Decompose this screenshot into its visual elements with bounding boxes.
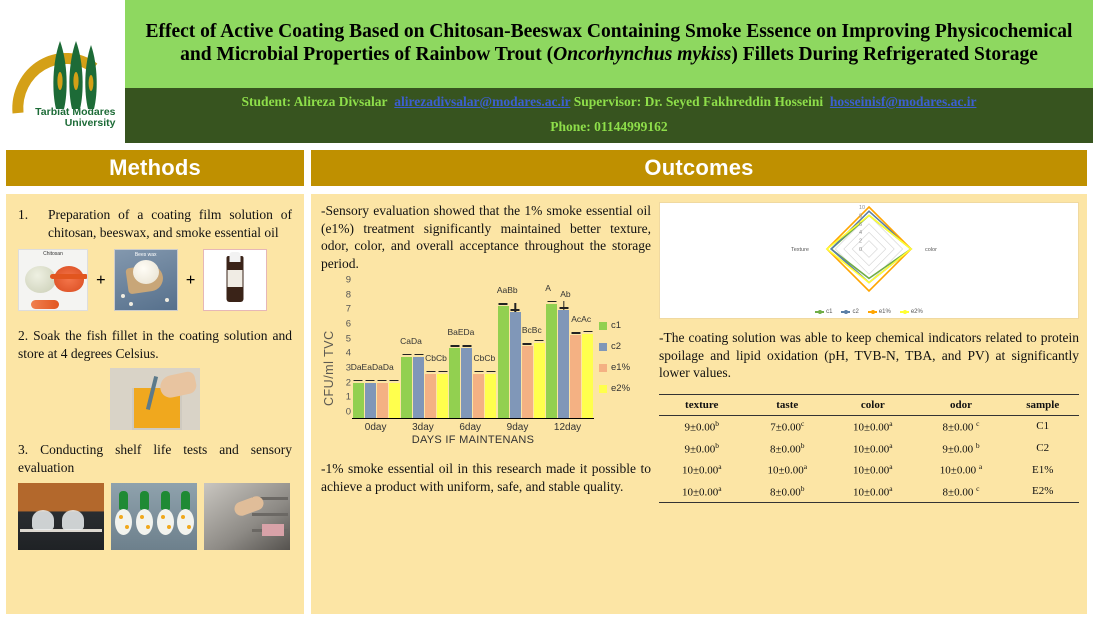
shelf-life-image-row bbox=[18, 483, 292, 550]
table-cell-superscript: a bbox=[889, 419, 892, 428]
radar-series-c1 bbox=[831, 215, 911, 278]
radar-legend-label: e2% bbox=[911, 309, 923, 315]
legend-label: c1 bbox=[611, 320, 621, 331]
student-email-link[interactable]: alirezadivsalar@modares.ac.ir bbox=[394, 94, 570, 109]
legend-item-c2: c2 bbox=[599, 341, 651, 352]
bar-group-annotation: A bbox=[545, 283, 551, 293]
section-header-outcomes: Outcomes bbox=[311, 150, 1087, 186]
bar-group-annotation: AcAc bbox=[571, 314, 591, 324]
radar-legend-label: c2 bbox=[852, 309, 858, 315]
bar-e2pct-12day bbox=[582, 334, 593, 418]
table-cell-superscript: a bbox=[889, 462, 892, 471]
header-right: Effect of Active Coating Based on Chitos… bbox=[125, 0, 1093, 143]
methods-step-1-text: Preparation of a coating film solution o… bbox=[48, 206, 292, 241]
poster-header: Tarbiat Modares University Effect of Act… bbox=[0, 0, 1093, 143]
table-cell-sample: C1 bbox=[1006, 415, 1079, 437]
bar-c2-12day bbox=[558, 310, 569, 418]
table-cell-superscript: c bbox=[801, 419, 804, 428]
shelf-line bbox=[252, 513, 288, 516]
table-cell-texture: 10±0.00a bbox=[659, 480, 745, 502]
table-cell-superscript: c bbox=[976, 419, 979, 428]
bar-chart-y-tick: 2 bbox=[346, 377, 351, 388]
contact-bar: Student: Alireza Divsalar alirezadivsala… bbox=[125, 88, 1093, 143]
table-cell-superscript: b bbox=[801, 441, 805, 450]
bar-chart-group: DaEaDaDa bbox=[353, 280, 400, 418]
table-cell-superscript: b bbox=[715, 419, 719, 428]
bar-group-annotation: BaEDa bbox=[447, 327, 474, 337]
wax-fleck bbox=[129, 302, 133, 306]
outcomes-right-column: odorcolorTasteTexture0246810 c1c2e1%e2% … bbox=[659, 202, 1079, 606]
title-species-italic: Oncorhynchus mykiss bbox=[553, 44, 731, 65]
bar-chart-group: AaBbBcBc bbox=[498, 280, 545, 418]
bar-error-cap bbox=[474, 371, 483, 373]
table-cell-odor: 8±0.00 c bbox=[916, 480, 1007, 502]
radar-legend-item-c1: c1 bbox=[815, 309, 832, 315]
bar-chart-legend: c1c2e1%e2% bbox=[594, 268, 651, 446]
beeswax-image: Bees wax bbox=[114, 249, 178, 311]
bar-error-cap bbox=[486, 371, 495, 373]
bar-e2pct-6day bbox=[485, 374, 496, 418]
legend-item-e2pct: e2% bbox=[599, 383, 651, 394]
bar-error-cap bbox=[535, 340, 544, 342]
sample-dot bbox=[181, 515, 185, 519]
bar-e2pct-0day bbox=[389, 383, 400, 418]
radar-grid-ring bbox=[861, 241, 878, 258]
cold-storage-image bbox=[204, 483, 290, 550]
plate-shape bbox=[157, 509, 174, 535]
bar-error-cap bbox=[571, 332, 580, 334]
chitosan-image: Chitosan bbox=[18, 249, 88, 311]
logo-text-line1: Tarbiat Modares bbox=[35, 107, 115, 118]
sample-dot bbox=[146, 525, 150, 529]
table-cell-superscript: c bbox=[976, 484, 979, 493]
legend-item-c1: c1 bbox=[599, 320, 651, 331]
logo-text: Tarbiat Modares University bbox=[35, 107, 115, 129]
radar-legend-swatch bbox=[868, 311, 877, 313]
bar-group-annotation: BcBc bbox=[522, 325, 542, 335]
sensory-evaluation-text: -Sensory evaluation showed that the 1% s… bbox=[321, 202, 651, 272]
bar-chart-x-axis-title: DAYS IF MAINTENANS bbox=[352, 434, 594, 446]
table-cell-color: 10±0.00a bbox=[830, 480, 916, 502]
table-header-sample: sample bbox=[1006, 394, 1079, 415]
bar-chart-y-tick: 4 bbox=[346, 348, 351, 359]
bar-error-cap bbox=[402, 354, 411, 356]
bar-chart-y-tick: 5 bbox=[346, 333, 351, 344]
legend-label: e2% bbox=[611, 383, 630, 394]
bar-e2pct-3day bbox=[437, 374, 448, 418]
bar-chart-x-tick: 3day bbox=[412, 422, 434, 433]
bar-error-cap bbox=[523, 343, 532, 345]
radar-r-tick: 10 bbox=[859, 205, 865, 211]
bar-chart-x-tick: 12day bbox=[554, 422, 581, 433]
page-title: Effect of Active Coating Based on Chitos… bbox=[131, 20, 1087, 66]
flask-shape bbox=[32, 510, 54, 530]
table-row: 9±0.00b7±0.00c10±0.00a8±0.00 cC1 bbox=[659, 415, 1079, 437]
shrimp-shape bbox=[31, 300, 59, 309]
wax-fleck bbox=[165, 298, 169, 302]
bar-c1-6day bbox=[449, 348, 460, 418]
table-cell-superscript: a bbox=[804, 462, 807, 471]
bar-c1-0day bbox=[353, 383, 364, 418]
bar-error-cap bbox=[366, 380, 375, 382]
bar-c2-0day bbox=[365, 383, 376, 418]
leaf-shape bbox=[140, 491, 149, 510]
bar-e1pct-12day bbox=[570, 335, 581, 418]
legend-swatch bbox=[599, 322, 607, 330]
bar-group-annotation: DaEaDaDa bbox=[351, 362, 394, 372]
table-header-row: texturetastecolorodorsample bbox=[659, 394, 1079, 415]
bar-group-annotation: CbCb bbox=[473, 353, 495, 363]
bar-chart-y-tick: 1 bbox=[346, 392, 351, 403]
table-row: 10±0.00a8±0.00b10±0.00a8±0.00 cE2% bbox=[659, 480, 1079, 502]
bar-chart-y-tick: 9 bbox=[346, 275, 351, 286]
bar-error-cap bbox=[583, 331, 592, 333]
bar-error-cap bbox=[414, 354, 423, 356]
legend-swatch bbox=[599, 364, 607, 372]
chemical-indicators-text: -The coating solution was able to keep c… bbox=[659, 329, 1079, 382]
wax-ball-shape bbox=[133, 260, 159, 284]
bar-error-cap bbox=[426, 371, 435, 373]
table-cell-superscript: b bbox=[801, 484, 805, 493]
table-cell-superscript: a bbox=[979, 462, 982, 471]
table-body: 9±0.00b7±0.00c10±0.00a8±0.00 cC19±0.00b8… bbox=[659, 415, 1079, 503]
radar-series-e2pct bbox=[827, 215, 911, 282]
smoke-oil-bottle-image bbox=[203, 249, 267, 311]
plate-shape bbox=[177, 509, 194, 535]
legend-swatch bbox=[599, 343, 607, 351]
lab-bench-image bbox=[18, 483, 104, 550]
legend-swatch bbox=[599, 385, 607, 393]
radar-r-tick: 6 bbox=[859, 222, 862, 228]
beaker-soaking-image bbox=[110, 368, 200, 430]
sample-dot bbox=[161, 515, 165, 519]
bar-chart-x-tick: 6day bbox=[459, 422, 481, 433]
bar-error-whisker bbox=[515, 303, 516, 312]
bar-chart-y-axis-title: CFU/ml TVC bbox=[321, 276, 337, 446]
table-row: 10±0.00a10±0.00a10±0.00a10±0.00 aE1% bbox=[659, 459, 1079, 481]
radar-axis-label: Texture bbox=[791, 247, 809, 253]
bar-error-cap bbox=[378, 380, 387, 382]
plus-sign-1: + bbox=[96, 270, 106, 290]
table-header-odor: odor bbox=[916, 394, 1007, 415]
methods-panel: 1. Preparation of a coating film solutio… bbox=[6, 194, 304, 614]
table-cell-sample: E1% bbox=[1006, 459, 1079, 481]
plus-sign-2: + bbox=[186, 270, 196, 290]
radar-axis-label: color bbox=[925, 247, 937, 253]
bar-e2pct-9day bbox=[534, 343, 545, 418]
methods-step-2-text: 2. Soak the fish fillet in the coating s… bbox=[18, 327, 292, 362]
bar-c2-3day bbox=[413, 357, 424, 418]
bar-error-cap bbox=[354, 380, 363, 382]
table-cell-odor: 9±0.00 b bbox=[916, 437, 1007, 459]
legend-item-e1pct: e1% bbox=[599, 362, 651, 373]
table-cell-odor: 10±0.00 a bbox=[916, 459, 1007, 481]
logo-text-line2: University bbox=[35, 118, 115, 129]
sensory-radar-chart: odorcolorTasteTexture0246810 c1c2e1%e2% bbox=[659, 202, 1079, 319]
bar-e1pct-0day bbox=[377, 383, 388, 418]
hand-shape bbox=[158, 370, 198, 399]
bar-c1-12day bbox=[546, 304, 557, 418]
bar-error-cap bbox=[438, 371, 447, 373]
radar-r-tick: 8 bbox=[859, 213, 862, 219]
bar-chart-y-tick: 0 bbox=[346, 407, 351, 418]
leaf-shape bbox=[119, 491, 128, 510]
sample-dot bbox=[125, 525, 129, 529]
bar-e1pct-6day bbox=[473, 374, 484, 418]
radar-legend-swatch bbox=[815, 311, 824, 313]
bar-error-cap bbox=[390, 380, 399, 382]
bar-error-whisker bbox=[563, 301, 564, 310]
poster-root: Tarbiat Modares University Effect of Act… bbox=[0, 0, 1093, 617]
section-header-methods: Methods bbox=[6, 150, 304, 186]
table-cell-sample: E2% bbox=[1006, 480, 1079, 502]
bar-chart-group: CaDaCbCb bbox=[401, 280, 448, 418]
section-header-row: Methods Outcomes bbox=[0, 150, 1093, 186]
beeswax-image-caption: Bees wax bbox=[115, 252, 177, 258]
supervisor-email-link[interactable]: hosseinisf@modares.ac.ir bbox=[830, 94, 977, 109]
tvc-bar-chart: CFU/ml TVC 0123456789 DaEaDaDaCaDaCbCbBa… bbox=[321, 276, 651, 446]
table-header-color: color bbox=[830, 394, 916, 415]
bar-c2-9day bbox=[510, 312, 521, 418]
bar-error-cap bbox=[462, 345, 471, 347]
table-cell-superscript: b bbox=[715, 441, 719, 450]
table-cell-texture: 9±0.00b bbox=[659, 415, 745, 437]
radar-chart-legend: c1c2e1%e2% bbox=[660, 309, 1078, 315]
radar-grid-ring bbox=[835, 215, 902, 282]
sample-dot bbox=[119, 515, 123, 519]
bar-e1pct-3day bbox=[425, 374, 436, 418]
ingredient-image-row: Chitosan + Bees wax + bbox=[18, 249, 292, 311]
lab-bench-edge bbox=[20, 529, 102, 532]
table-cell-superscript: b bbox=[976, 441, 980, 450]
bar-c2-6day bbox=[461, 348, 472, 418]
bar-chart-x-tick-labels: 0day3day6day9day12day bbox=[352, 422, 594, 433]
table-header-texture: texture bbox=[659, 394, 745, 415]
phone-line: Phone: 01144999162 bbox=[125, 117, 1093, 136]
leaf-shape bbox=[161, 491, 170, 510]
student-label: Student: Alireza Divsalar bbox=[242, 94, 388, 109]
radar-r-tick: 2 bbox=[859, 239, 862, 245]
bar-chart-y-tick: 8 bbox=[346, 289, 351, 300]
supervisor-label: Supervisor: Dr. Seyed Fakhreddin Hossein… bbox=[574, 94, 823, 109]
title-part-2: ) Fillets During Refrigerated Storage bbox=[731, 44, 1038, 65]
table-cell-superscript: a bbox=[718, 484, 721, 493]
title-bar: Effect of Active Coating Based on Chitos… bbox=[125, 0, 1093, 88]
bar-c1-9day bbox=[498, 306, 509, 418]
radar-legend-label: e1% bbox=[879, 309, 891, 315]
table-row: 9±0.00b8±0.00b10±0.00a9±0.00 bC2 bbox=[659, 437, 1079, 459]
logo-container: Tarbiat Modares University bbox=[0, 0, 125, 143]
methods-step-3-text: 3. Conducting shelf life tests and senso… bbox=[18, 441, 292, 476]
radar-svg: odorcolorTasteTexture0246810 bbox=[660, 203, 1078, 299]
bottle-cap-shape bbox=[230, 252, 241, 262]
table-cell-taste: 8±0.00b bbox=[745, 480, 831, 502]
radar-legend-item-e1pct: e1% bbox=[868, 309, 891, 315]
conclusion-text: -1% smoke essential oil in this research… bbox=[321, 460, 651, 495]
table-cell-color: 10±0.00a bbox=[830, 415, 916, 437]
bar-group-annotation: Ab bbox=[560, 289, 570, 299]
radar-legend-swatch bbox=[841, 311, 850, 313]
bottle-label-shape bbox=[228, 270, 243, 287]
plate-shape bbox=[115, 509, 132, 535]
sample-dot bbox=[187, 525, 191, 529]
outcomes-panel: -Sensory evaluation showed that the 1% s… bbox=[311, 194, 1087, 614]
sample-dot bbox=[167, 525, 171, 529]
bar-chart-y-tick: 6 bbox=[346, 319, 351, 330]
radar-legend-swatch bbox=[900, 311, 909, 313]
bar-group-annotation: CaDa bbox=[400, 336, 422, 346]
bar-chart-group: AAbAcAc bbox=[546, 280, 593, 418]
methods-step-1: 1. Preparation of a coating film solutio… bbox=[18, 206, 292, 241]
bar-chart-y-tick: 7 bbox=[346, 304, 351, 315]
bar-chart-plot-area: DaEaDaDaCaDaCbCbBaEDaCbCbAaBbBcBcAAbAcAc bbox=[352, 280, 594, 419]
crab-shape bbox=[54, 266, 84, 292]
bar-chart-group: BaEDaCbCb bbox=[449, 280, 496, 418]
table-header-taste: taste bbox=[745, 394, 831, 415]
bar-chart-groups: DaEaDaDaCaDaCbCbBaEDaCbCbAaBbBcBcAAbAcAc bbox=[352, 280, 594, 418]
table-cell-color: 10±0.00a bbox=[830, 437, 916, 459]
bar-group-annotation: CbCb bbox=[425, 353, 447, 363]
table-cell-superscript: a bbox=[889, 441, 892, 450]
radar-legend-item-e2pct: e2% bbox=[900, 309, 923, 315]
sensory-results-table: texturetastecolorodorsample 9±0.00b7±0.0… bbox=[659, 394, 1079, 504]
legend-label: e1% bbox=[611, 362, 630, 373]
leaf-shape bbox=[181, 491, 190, 510]
methods-step-1-number: 1. bbox=[18, 206, 42, 241]
table-cell-texture: 10±0.00a bbox=[659, 459, 745, 481]
radar-legend-label: c1 bbox=[826, 309, 832, 315]
wax-fleck bbox=[121, 294, 125, 298]
poster-body: 1. Preparation of a coating film solutio… bbox=[0, 186, 1093, 620]
sample-dot bbox=[140, 515, 144, 519]
chitosan-powder-shape bbox=[25, 266, 56, 293]
table-cell-taste: 10±0.00a bbox=[745, 459, 831, 481]
bar-c1-3day bbox=[401, 357, 412, 418]
bar-error-cap bbox=[547, 301, 556, 303]
bar-chart-x-tick: 9day bbox=[507, 422, 529, 433]
table-cell-sample: C2 bbox=[1006, 437, 1079, 459]
bar-e1pct-9day bbox=[522, 346, 533, 418]
radar-grid-ring bbox=[852, 232, 886, 266]
table-cell-superscript: a bbox=[889, 484, 892, 493]
plate-shape bbox=[136, 509, 153, 535]
table-cell-color: 10±0.00a bbox=[830, 459, 916, 481]
contact-line-authors: Student: Alireza Divsalar alirezadivsala… bbox=[125, 92, 1093, 111]
radar-r-tick: 0 bbox=[859, 247, 862, 253]
radar-legend-item-c2: c2 bbox=[841, 309, 858, 315]
table-cell-taste: 7±0.00c bbox=[745, 415, 831, 437]
outcomes-left-column: -Sensory evaluation showed that the 1% s… bbox=[321, 202, 651, 606]
bar-error-cap bbox=[499, 303, 508, 305]
table-cell-odor: 8±0.00 c bbox=[916, 415, 1007, 437]
bar-chart-x-tick: 0day bbox=[365, 422, 387, 433]
bar-chart-y-ticks: 0123456789 bbox=[337, 280, 352, 412]
table-cell-texture: 9±0.00b bbox=[659, 437, 745, 459]
legend-label: c2 bbox=[611, 341, 621, 352]
sample-pack-shape bbox=[262, 524, 284, 536]
radar-r-tick: 4 bbox=[859, 230, 862, 236]
flask-shape bbox=[62, 510, 84, 530]
chitosan-image-caption: Chitosan bbox=[19, 251, 87, 257]
table-cell-taste: 8±0.00b bbox=[745, 437, 831, 459]
bar-error-cap bbox=[450, 345, 459, 347]
sensory-plates-image bbox=[111, 483, 197, 550]
university-logo-icon: Tarbiat Modares University bbox=[8, 13, 118, 131]
bar-group-annotation: AaBb bbox=[497, 285, 518, 295]
table-cell-superscript: a bbox=[718, 462, 721, 471]
